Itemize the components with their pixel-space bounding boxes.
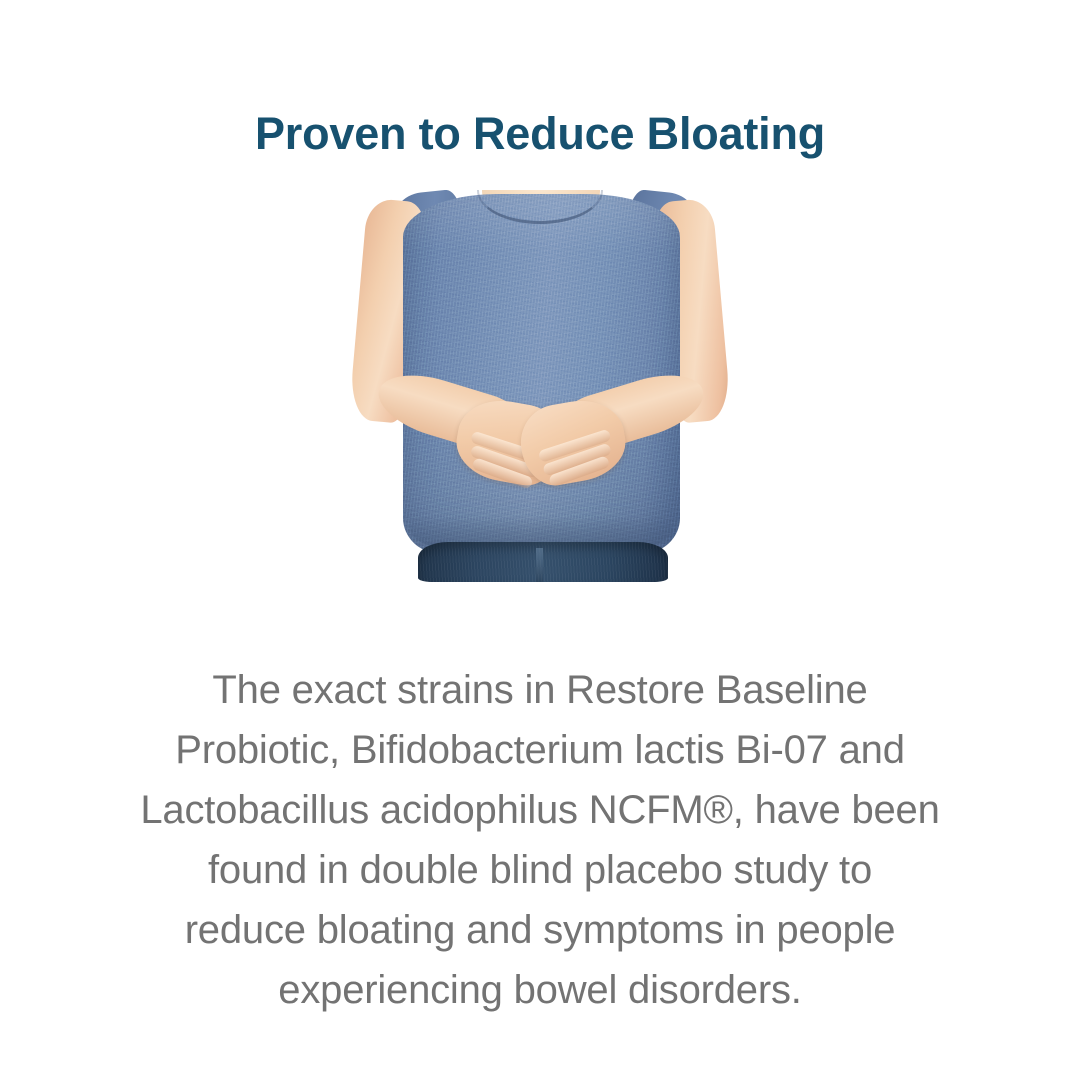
body-copy-line: Probiotic, Bifidobacterium lactis Bi-07 … xyxy=(52,720,1028,780)
hero-photo xyxy=(270,190,810,582)
body-copy-line: The exact strains in Restore Baseline xyxy=(52,660,1028,720)
body-copy-line: experiencing bowel disorders. xyxy=(52,960,1028,1020)
page-title: Proven to Reduce Bloating xyxy=(0,108,1080,160)
woman-torso-illustration xyxy=(270,190,810,582)
heather-texture xyxy=(403,194,680,554)
body-copy: The exact strains in Restore Baseline Pr… xyxy=(52,660,1028,1020)
body-copy-line: found in double blind placebo study to xyxy=(52,840,1028,900)
body-copy-line: reduce bloating and symptoms in people xyxy=(52,900,1028,960)
jeans-fly xyxy=(536,548,543,582)
jeans-waistband xyxy=(418,542,668,582)
promo-card: Proven to Reduce Bloating xyxy=(0,0,1080,1080)
clasped-hands xyxy=(455,398,631,492)
blue-tshirt xyxy=(403,194,680,554)
body-copy-line: Lactobacillus acidophilus NCFM®, have be… xyxy=(52,780,1028,840)
